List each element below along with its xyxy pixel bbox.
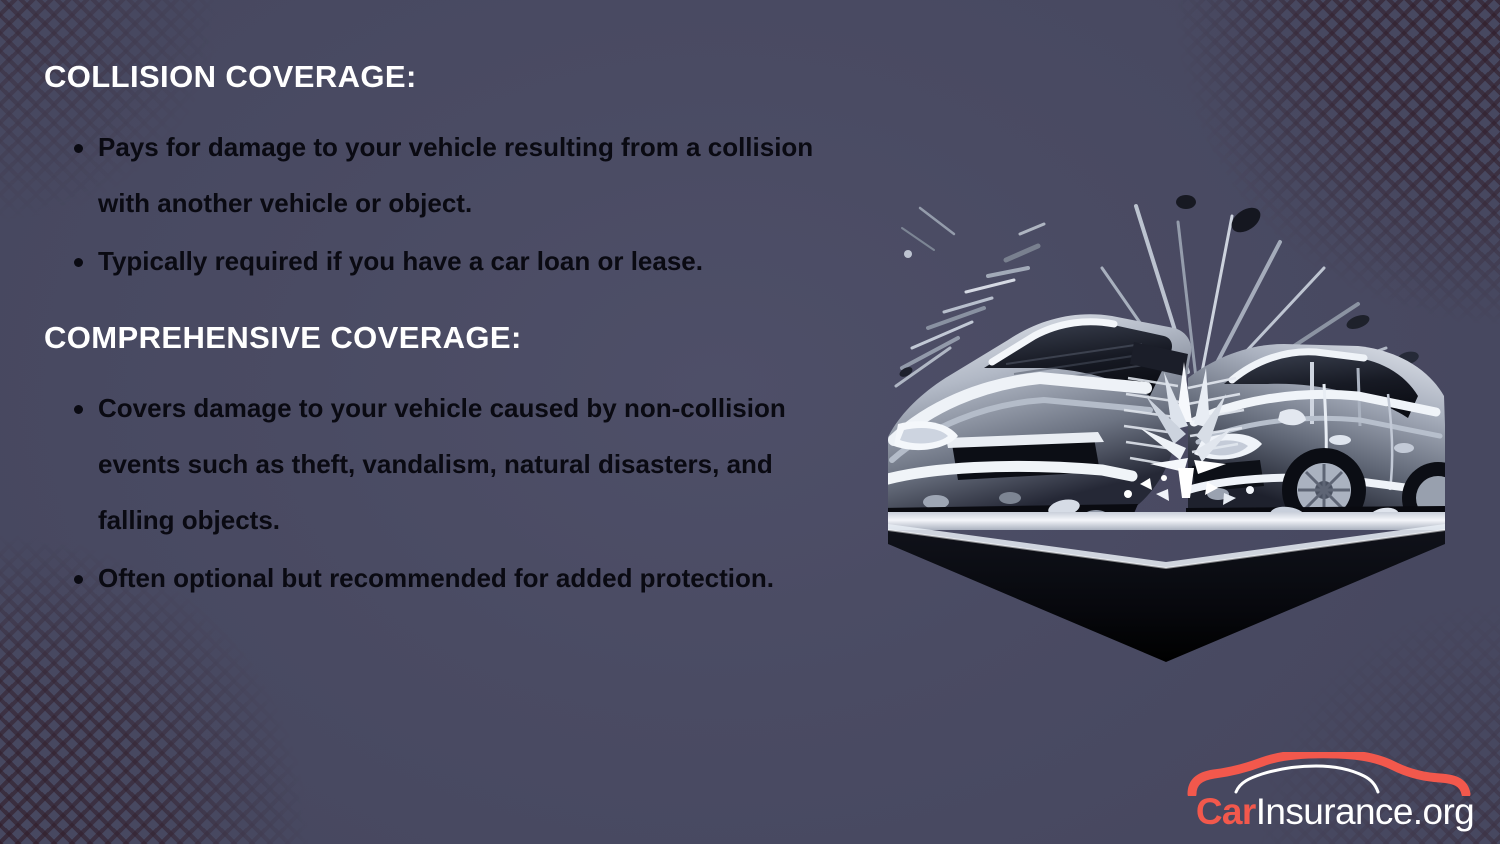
bullet-list-collision: Pays for damage to your vehicle resultin… — [44, 119, 844, 289]
car-silhouette-icon — [1184, 752, 1486, 796]
bullet-list-comprehensive: Covers damage to your vehicle caused by … — [44, 380, 844, 606]
logo-brand-primary: Car — [1196, 791, 1256, 832]
car-collision-illustration — [888, 172, 1445, 662]
car-right — [1186, 344, 1445, 534]
list-item: Often optional but recommended for added… — [44, 550, 844, 606]
list-item: Pays for damage to your vehicle resultin… — [44, 119, 844, 231]
brand-logo[interactable]: CarInsurance.org — [1184, 752, 1486, 828]
logo-wordmark: CarInsurance.org — [1184, 793, 1486, 830]
section-heading-comprehensive: COMPREHENSIVE COVERAGE: — [44, 319, 844, 358]
section-comprehensive-coverage: COMPREHENSIVE COVERAGE: Covers damage to… — [44, 319, 844, 606]
section-collision-coverage: COLLISION COVERAGE: Pays for damage to y… — [44, 58, 844, 289]
section-heading-collision: COLLISION COVERAGE: — [44, 58, 844, 97]
platform-base — [888, 512, 1445, 662]
list-item: Typically required if you have a car loa… — [44, 233, 844, 289]
content-column: COLLISION COVERAGE: Pays for damage to y… — [44, 58, 844, 610]
infographic-slide: COLLISION COVERAGE: Pays for damage to y… — [0, 0, 1500, 844]
logo-brand-secondary: Insurance.org — [1256, 791, 1474, 832]
car-left — [888, 314, 1191, 520]
list-item: Covers damage to your vehicle caused by … — [44, 380, 844, 548]
